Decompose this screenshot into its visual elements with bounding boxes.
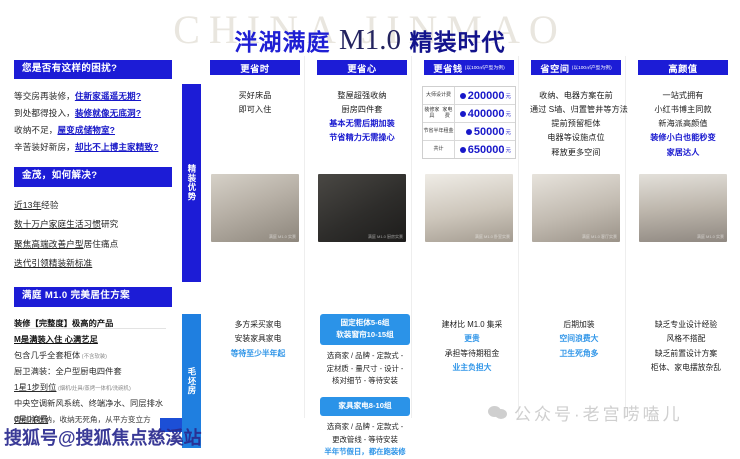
spacer xyxy=(316,388,414,397)
column-bottom-line: 风格不搭配 xyxy=(637,332,735,346)
solution-item: 近13年经验 xyxy=(14,196,172,215)
column-header-label: 省空间 xyxy=(540,61,569,75)
column-bottom-content: 固定柜体5-6组软装窗帘10-15组选商家 / 品牌 - 定款式 -定材质 - … xyxy=(313,314,417,459)
cost-unit: 元 xyxy=(505,128,511,136)
cost-label-line: 装修家具 xyxy=(423,108,441,120)
cost-table-value: 50000元 xyxy=(455,126,515,138)
process-step-line: 选商家 / 品牌 - 定款式 - xyxy=(316,421,414,434)
cost-table-label: 装修家具家电费 xyxy=(423,105,455,122)
column-header-note: (以100㎡产型为例) xyxy=(465,64,505,71)
plan-item-text: 厨卫满装：全户型厨电四件套 xyxy=(14,367,122,376)
cost-table-label: 节省半年租金 xyxy=(423,123,455,140)
column-bottom-content: 建材比 M1.0 集采更贵承担等待期租金业主负担大 xyxy=(420,318,524,376)
cost-unit: 元 xyxy=(505,110,511,118)
plan-item: 包含几乎全套柜体 (不含软装) xyxy=(14,348,172,364)
column-header-note: (以100㎡产型为例) xyxy=(572,64,612,71)
column-top-content: 收纳、电器方案在前通过 S墙、归置管井等方法提前预留柜体电器等设施点位释放更多空… xyxy=(527,89,625,160)
process-step-line: 更改管线 - 等待安装 xyxy=(316,434,414,447)
plan-item: 装修【完整度】极高的产品 xyxy=(14,316,172,332)
column-top-line: 提前预留柜体 xyxy=(530,117,622,131)
photo-caption: 满庭 M1.0 厨房实景 xyxy=(368,234,403,240)
cost-amount: 650000 xyxy=(468,144,505,156)
plan-item: M是满装入住 心满艺足 xyxy=(14,332,172,348)
column-top-line: 节省精力无需操心 xyxy=(316,131,408,145)
comparison-column: 高颜值一站式拥有小红书博主同款新海派高颜值装修小白也能秒变家居达人满庭 M1.0… xyxy=(634,56,732,418)
column-bottom-line: 后期加装 xyxy=(530,318,628,332)
solution-item: 聚焦高端改善户型居住痛点 xyxy=(14,235,172,254)
column-top-content: 买好床品即可入住 xyxy=(206,89,304,117)
problem-item-emphasis: 屋变成储物室? xyxy=(57,125,115,135)
problem-item: 辛苦装好新房，却比不上博主家精致? xyxy=(14,139,172,156)
plan-item-text: M是满装入住 心满艺足 xyxy=(14,335,98,344)
column-top-line: 整屋超强收纳 xyxy=(316,89,408,103)
plan-item: 中央空调新风系统、终端净水、同层排水 xyxy=(14,396,172,412)
solution-item: 数十万户家庭生活习惯研究 xyxy=(14,215,172,234)
photo-caption: 满庭 M1.0 实景 xyxy=(697,234,724,240)
column-bottom-line: 多方采买家电 xyxy=(209,318,307,332)
interior-photo: 满庭 M1.0 卧室实景 xyxy=(425,174,513,242)
column-top-line: 通过 S墙、归置管井等方法 xyxy=(530,103,622,117)
plan-item-text: 包含几乎全套柜体 xyxy=(14,351,80,360)
cost-table-label: 共计 xyxy=(423,141,455,158)
page-title-version: M1.0 xyxy=(335,24,405,56)
wechat-watermark: 公众号·老宫唠嗑儿 xyxy=(488,400,683,425)
column-top-line: 基本无需后期加装 xyxy=(316,117,408,131)
cost-unit: 元 xyxy=(505,92,511,100)
cost-unit: 元 xyxy=(505,146,511,154)
problem-item-emphasis: 住新家遥遥无期? xyxy=(75,91,141,101)
coin-icon xyxy=(460,147,466,153)
process-step-line: 核对细节 - 等待安装 xyxy=(316,375,414,388)
column-header-label: 更省时 xyxy=(240,61,269,75)
cost-label-line: 节省 xyxy=(423,129,433,135)
solution-item-emphasis: 数十万户家庭生活习惯 xyxy=(14,219,101,229)
column-top-line: 释放更多空间 xyxy=(530,146,622,160)
sohu-watermark: 搜狐号@搜狐焦点慈溪站 xyxy=(4,424,202,450)
cost-table-row: 装修家具家电费400000元 xyxy=(423,105,515,123)
problem-section-3-title: 满庭 M1.0 完美居住方案 xyxy=(14,287,172,306)
coin-icon xyxy=(466,129,472,135)
panel-divider xyxy=(14,328,166,329)
cost-amount: 200000 xyxy=(468,90,505,102)
column-top-content: 一站式拥有小红书博主同款新海派高颜值装修小白也能秒变家居达人 xyxy=(634,89,732,160)
wechat-icon xyxy=(488,405,508,421)
column-header-label: 高颜值 xyxy=(668,61,697,75)
solution-item-emphasis: 聚焦高端改善户型 xyxy=(14,239,84,249)
problem-item-emphasis: 装修就像无底洞? xyxy=(75,108,141,118)
column-header[interactable]: 更省心 xyxy=(317,60,407,75)
page-title: 泮湖满庭 M1.0 精装时代 xyxy=(0,23,740,57)
problem-item-emphasis: 却比不上博主家精致? xyxy=(75,142,159,152)
column-bottom-line: 更贵 xyxy=(423,332,521,346)
comparison-column: 更省时买好床品即可入住满庭 M1.0 实景多方采买家电安装家具家电等待至少半年起 xyxy=(206,56,305,418)
column-header[interactable]: 省空间(以100㎡产型为例) xyxy=(531,60,621,75)
process-step-line: 半年节假日，都在跑装修 xyxy=(316,446,414,459)
column-bottom-content: 缺乏专业设计经验风格不搭配缺乏前置设计方案柜体、家电摆放杂乱 xyxy=(634,318,738,376)
column-top-line: 小红书博主同款 xyxy=(637,103,729,117)
photo-caption: 满庭 M1.0 实景 xyxy=(269,234,296,240)
column-header[interactable]: 高颜值 xyxy=(638,60,728,75)
problem-section-1-list: 等交房再装修，住新家遥遥无期?到处都得投入，装修就像无底洞?收纳不足，屋变成储物… xyxy=(14,88,172,155)
solution-item: 迭代引领精装新标准 xyxy=(14,254,172,273)
coin-icon xyxy=(460,111,466,117)
cost-label-line: 家电费 xyxy=(441,108,454,120)
process-step-line: 选商家 / 品牌 - 定款式 - xyxy=(316,350,414,363)
column-bottom-line: 安装家具家电 xyxy=(209,332,307,346)
problem-item: 等交房再装修，住新家遥遥无期? xyxy=(14,88,172,105)
problem-section-2-list: 近13年经验数十万户家庭生活习惯研究聚焦高端改善户型居住痛点迭代引领精装新标准 xyxy=(14,196,172,273)
photo-caption: 满庭 M1.0 卧室实景 xyxy=(475,234,510,240)
process-step-list: 选商家 / 品牌 - 定款式 -更改管线 - 等待安装半年节假日，都在跑装修 xyxy=(316,421,414,459)
column-top-line: 电器等设施点位 xyxy=(530,131,622,145)
cost-table-label: 大师设计费 xyxy=(423,87,455,104)
cost-table-value: 650000元 xyxy=(455,144,515,156)
cost-label-line: 共计 xyxy=(433,147,443,153)
column-bottom-content: 后期加装空间浪费大卫生死角多 xyxy=(527,318,631,361)
highlight-box-line: 固定柜体5-6组 xyxy=(322,317,408,329)
column-bottom-line: 缺乏专业设计经验 xyxy=(637,318,735,332)
plan-item-note: (不含软装) xyxy=(80,354,107,360)
column-bottom-line: 承担等待期租金 xyxy=(423,347,521,361)
side-label-bare-house-text: 毛坯房 xyxy=(187,367,196,395)
interior-photo: 满庭 M1.0 厨房实景 xyxy=(318,174,406,242)
wechat-watermark-text: 公众号·老宫唠嗑儿 xyxy=(514,400,683,425)
highlight-box: 家具家电8-10组 xyxy=(320,397,410,416)
column-bottom-line: 柜体、家电摆放杂乱 xyxy=(637,361,735,375)
column-header[interactable]: 更省时 xyxy=(210,60,300,75)
plan-item-text: 1星1步到位 xyxy=(14,383,56,392)
column-top-content: 整屋超强收纳厨房四件套基本无需后期加装节省精力无需操心 xyxy=(313,89,411,146)
problem-section-3-list: 装修【完整度】极高的产品M是满装入住 心满艺足包含几乎全套柜体 (不含软装)厨卫… xyxy=(14,316,172,428)
interior-photo: 满庭 M1.0 实景 xyxy=(211,174,299,242)
column-top-line: 一站式拥有 xyxy=(637,89,729,103)
coin-icon xyxy=(460,93,466,99)
side-label-advantage: 精装优势 xyxy=(182,84,201,282)
page-title-cn-left: 泮湖满庭 xyxy=(235,29,331,55)
solution-item-emphasis: 迭代引领精装新标准 xyxy=(14,258,92,268)
problem-section-1-title: 您是否有这样的困扰? xyxy=(14,60,172,79)
problem-item-plain: 收纳不足， xyxy=(14,125,57,135)
column-bottom-line: 业主负担大 xyxy=(423,361,521,375)
cost-amount: 400000 xyxy=(468,108,505,120)
cost-table-value: 200000元 xyxy=(455,90,515,102)
interior-photo: 满庭 M1.0 实景 xyxy=(639,174,727,242)
column-top-line: 装修小白也能秒变 xyxy=(637,131,729,145)
problem-item-plain: 辛苦装好新房， xyxy=(14,142,75,152)
plan-item: 厨卫满装：全户型厨电四件套 xyxy=(14,364,172,380)
solution-item-plain: 居住痛点 xyxy=(84,239,119,249)
column-header[interactable]: 更省钱(以100㎡产型为例) xyxy=(424,60,514,75)
plan-item-text: 中央空调新风系统、终端净水、同层排水 xyxy=(14,399,163,408)
column-bottom-line: 空间浪费大 xyxy=(530,332,628,346)
column-top-line: 新海派高颜值 xyxy=(637,117,729,131)
problem-item: 收纳不足，屋变成储物室? xyxy=(14,122,172,139)
cost-label-line: 设计费 xyxy=(436,93,451,99)
column-bottom-line: 等待至少半年起 xyxy=(209,347,307,361)
problem-panel: 您是否有这样的困扰? 等交房再装修，住新家遥遥无期?到处都得投入，装修就像无底洞… xyxy=(14,60,172,412)
column-header-label: 更省钱 xyxy=(433,61,462,75)
problem-item-plain: 到处都得投入， xyxy=(14,108,75,118)
solution-item-plain: 研究 xyxy=(101,219,118,229)
process-step-line: 定材质 - 量尺寸 - 设计 - xyxy=(316,363,414,376)
column-bottom-line: 建材比 M1.0 集采 xyxy=(423,318,521,332)
process-step-list: 选商家 / 品牌 - 定款式 -定材质 - 量尺寸 - 设计 -核对细节 - 等… xyxy=(316,350,414,388)
highlight-box-line: 家具家电8-10组 xyxy=(322,400,408,412)
highlight-box: 固定柜体5-6组软装窗帘10-15组 xyxy=(320,314,410,345)
comparison-column: 更省钱(以100㎡产型为例)大师设计费200000元装修家具家电费400000元… xyxy=(420,56,519,418)
cost-table-value: 400000元 xyxy=(455,108,515,120)
cost-label-line: 大师 xyxy=(426,93,436,99)
column-bottom-line: 缺乏前置设计方案 xyxy=(637,347,735,361)
comparison-column: 省空间(以100㎡产型为例)收纳、电器方案在前通过 S墙、归置管井等方法提前预留… xyxy=(527,56,626,418)
cost-table-row: 节省半年租金50000元 xyxy=(423,123,515,141)
cost-label-line: 半年租金 xyxy=(434,129,454,135)
solution-item-plain: 经验 xyxy=(41,200,58,210)
column-top-line: 家居达人 xyxy=(637,146,729,160)
photo-caption: 满庭 M1.0 客厅实景 xyxy=(582,234,617,240)
cost-table-row: 大师设计费200000元 xyxy=(423,87,515,105)
column-header-label: 更省心 xyxy=(347,61,376,75)
plan-item-note: (烟机/灶具/蒸烤一体机/洗碗机) xyxy=(56,386,130,392)
column-top-line: 收纳、电器方案在前 xyxy=(530,89,622,103)
highlight-box-line: 软装窗帘10-15组 xyxy=(322,329,408,341)
column-top-line: 即可入住 xyxy=(209,103,301,117)
column-bottom-line: 卫生死角多 xyxy=(530,347,628,361)
cost-table-row: 共计650000元 xyxy=(423,141,515,158)
page-title-cn-right: 精装时代 xyxy=(409,29,505,55)
comparison-column: 更省心整屋超强收纳厨房四件套基本无需后期加装节省精力无需操心满庭 M1.0 厨房… xyxy=(313,56,412,418)
plan-item-text: 装修【完整度】极高的产品 xyxy=(14,319,113,328)
problem-section-2-title: 金茂，如何解决? xyxy=(14,167,172,186)
problem-item-plain: 等交房再装修， xyxy=(14,91,75,101)
interior-photo: 满庭 M1.0 客厅实景 xyxy=(532,174,620,242)
column-top-line: 买好床品 xyxy=(209,89,301,103)
side-label-advantage-text: 精装优势 xyxy=(187,164,196,202)
columns-container: 更省时买好床品即可入住满庭 M1.0 实景多方采买家电安装家具家电等待至少半年起… xyxy=(206,56,740,418)
problem-item: 到处都得投入，装修就像无底洞? xyxy=(14,105,172,122)
column-top-line: 厨房四件套 xyxy=(316,103,408,117)
cost-table: 大师设计费200000元装修家具家电费400000元节省半年租金50000元共计… xyxy=(422,86,516,159)
comparison-board: 您是否有这样的困扰? 等交房再装修，住新家遥遥无期?到处都得投入，装修就像无底洞… xyxy=(0,56,740,418)
cost-amount: 50000 xyxy=(474,126,505,138)
plan-item: 1星1步到位 (烟机/灶具/蒸烤一体机/洗碗机) xyxy=(14,380,172,396)
column-bottom-content: 多方采买家电安装家具家电等待至少半年起 xyxy=(206,318,310,361)
solution-item-emphasis: 近13年 xyxy=(14,200,41,210)
